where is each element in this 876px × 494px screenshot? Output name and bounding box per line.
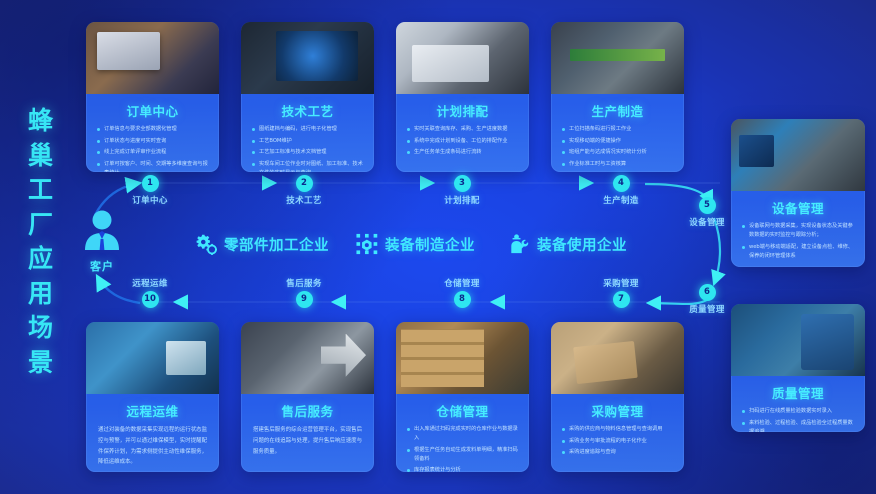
infographic-canvas: 蜂巢工厂应用场景 [0, 0, 876, 494]
mid-label-parts-manufacturing: 零部件加工企业 [195, 233, 329, 255]
card-bullet: 实时关联查询库存、采购、生产进度数据 [405, 125, 520, 134]
mid-label-equipment-usage: 装备使用企业 [508, 233, 627, 255]
card-bullet: 系统中完成计划到设备、工位的排配作业 [405, 137, 520, 146]
flow-node-number: 8 [454, 291, 471, 308]
card-bullet: 订单可按客户、时间、交期等多维度查询与报表统计 [95, 160, 210, 172]
card-bullet: 来料检验、过程检验、成品检验全过程质量数据追溯 [740, 419, 856, 432]
card-photo [86, 322, 219, 394]
card-photo [396, 22, 529, 94]
mid-label-text: 零部件加工企业 [224, 234, 329, 255]
flow-node-2[interactable]: 2 技术工艺 [274, 175, 334, 206]
card-photo [86, 22, 219, 94]
card-after-sales[interactable]: 售后服务 搭建售后服务的综合运营管理平台，实现售后问题的在线追踪与处理，提升售后… [241, 322, 374, 472]
flow-node-number: 6 [699, 284, 716, 301]
network-node-icon [356, 233, 378, 255]
flow-node-10[interactable]: 10 远程运维 [120, 277, 180, 308]
card-title: 计划排配 [405, 101, 520, 120]
card-bullet-list: 采购的供应商与物料信息管理与查询调用采购业务与审批流程的电子化作业采购进度追踪与… [560, 425, 675, 457]
flow-node-number: 7 [613, 291, 630, 308]
flow-node-number: 2 [296, 175, 313, 192]
page-title-char: 厂 [28, 208, 54, 243]
card-paragraph: 搭建售后服务的综合运营管理平台，实现售后问题的在线追踪与处理，提升售后响应速度与… [250, 425, 365, 457]
card-bullet: 采购进度追踪与查询 [560, 448, 675, 457]
gears-icon [195, 233, 217, 255]
flow-node-label: 仓储管理 [432, 277, 492, 289]
card-bullet: 扫码进行在线质量检验数据实时录入 [740, 407, 856, 416]
card-photo [731, 304, 865, 376]
card-title: 售后服务 [250, 401, 365, 420]
card-photo [551, 22, 684, 94]
card-procurement[interactable]: 采购管理 采购的供应商与物料信息管理与查询调用采购业务与审批流程的电子化作业采购… [551, 322, 684, 472]
card-bullet: web端与移动端适配，建立设备点检、维修、保养的闭环管理体系 [740, 243, 856, 261]
card-photo [731, 119, 865, 191]
card-title: 技术工艺 [250, 101, 365, 120]
card-production[interactable]: 生产制造 工位扫描条码进行报工作业实现移动端的便捷操作班组产能与达成情况实时统计… [551, 22, 684, 172]
flow-node-number: 3 [454, 175, 471, 192]
card-bullet: 设备联网与数据采集，实现设备状态及关键参数数据的实时监控与跟踪分析； [740, 222, 856, 240]
card-bullet: 图纸建档与编码，进行电子化管理 [250, 125, 365, 134]
card-bullet-list: 图纸建档与编码，进行电子化管理工艺BOM维护工艺加工标准与技术文档管理实现车间工… [250, 125, 365, 172]
card-bullet: 实现移动端的便捷操作 [560, 137, 675, 146]
card-plan-schedule[interactable]: 计划排配 实时关联查询库存、采购、生产进度数据系统中完成计划到设备、工位的排配作… [396, 22, 529, 172]
flow-node-label: 订单中心 [120, 194, 180, 206]
card-bullet-list: 工位扫描条码进行报工作业实现移动端的便捷操作班组产能与达成情况实时统计分析作业标… [560, 125, 675, 169]
flow-node-1[interactable]: 1 订单中心 [120, 175, 180, 206]
flow-node-label: 设备管理 [677, 216, 737, 228]
flow-node-number: 10 [142, 291, 159, 308]
page-title-char: 工 [28, 173, 54, 208]
card-tech-process[interactable]: 技术工艺 图纸建档与编码，进行电子化管理工艺BOM维护工艺加工标准与技术文档管理… [241, 22, 374, 172]
flow-node-number: 9 [296, 291, 313, 308]
page-title-char: 巢 [28, 139, 54, 174]
flow-node-7[interactable]: 7 采购管理 [591, 277, 651, 308]
flow-node-number: 5 [699, 197, 716, 214]
card-bullet-list: 实时关联查询库存、采购、生产进度数据系统中完成计划到设备、工位的排配作业生产任务… [405, 125, 520, 157]
customer-block: 客户 [74, 209, 130, 274]
flow-node-label: 计划排配 [432, 194, 492, 206]
flow-node-8[interactable]: 8 仓储管理 [432, 277, 492, 308]
card-title: 仓储管理 [405, 401, 520, 420]
customer-label: 客户 [74, 258, 130, 274]
card-bullet: 根据生产任务自动生成发料单明细，精准扫码领备料 [405, 446, 520, 464]
worker-wrench-icon [508, 233, 530, 255]
mid-label-equipment-manufacturing: 装备制造企业 [356, 233, 475, 255]
card-photo [241, 22, 374, 94]
card-bullet: 作业标准工时与工资核算 [560, 160, 675, 169]
card-bullet: 订单状态与进度可实时查询 [95, 137, 210, 146]
page-title-char: 蜂 [28, 104, 54, 139]
card-bullet: 班组产能与达成情况实时统计分析 [560, 148, 675, 157]
flow-node-number: 4 [613, 175, 630, 192]
card-title: 质量管理 [740, 383, 856, 402]
card-warehouse[interactable]: 仓储管理 出入库通过扫码完成实时的仓库作业与数据录入根据生产任务自动生成发料单明… [396, 322, 529, 472]
page-title-char: 用 [28, 277, 54, 312]
card-bullet-list: 设备联网与数据采集，实现设备状态及关键参数数据的实时监控与跟踪分析；web端与移… [740, 222, 856, 261]
flow-node-label: 质量管理 [677, 303, 737, 315]
card-bullet-list: 扫码进行在线质量检验数据实时录入来料检验、过程检验、成品检验全过程质量数据追溯质… [740, 407, 856, 432]
card-bullet: 库存报表统计与分析 [405, 466, 520, 472]
flow-node-4[interactable]: 4 生产制造 [591, 175, 651, 206]
flow-node-label: 生产制造 [591, 194, 651, 206]
person-suit-icon [79, 209, 125, 251]
page-title-char: 应 [28, 242, 54, 277]
flow-node-6[interactable]: 6 质量管理 [677, 284, 737, 315]
card-bullet-list: 出入库通过扫码完成实时的仓库作业与数据录入根据生产任务自动生成发料单明细，精准扫… [405, 425, 520, 472]
card-bullet: 工艺加工标准与技术文档管理 [250, 148, 365, 157]
card-photo [396, 322, 529, 394]
card-bullet: 生产任务单生成条码进行流转 [405, 148, 520, 157]
card-bullet: 采购的供应商与物料信息管理与查询调用 [560, 425, 675, 434]
card-bullet: 采购业务与审批流程的电子化作业 [560, 437, 675, 446]
card-bullet: 工位扫描条码进行报工作业 [560, 125, 675, 134]
card-title: 订单中心 [95, 101, 210, 120]
flow-node-9[interactable]: 9 售后服务 [274, 277, 334, 308]
card-title: 远程运维 [95, 401, 210, 420]
flow-node-label: 技术工艺 [274, 194, 334, 206]
page-title-char: 场 [28, 311, 54, 346]
card-bullet: 订单信息与要求全部数据化管理 [95, 125, 210, 134]
card-photo [551, 322, 684, 394]
card-title: 生产制造 [560, 101, 675, 120]
flow-node-number: 1 [142, 175, 159, 192]
card-bullet: 线上完成订单评审作业流程 [95, 148, 210, 157]
card-bullet: 出入库通过扫码完成实时的仓库作业与数据录入 [405, 425, 520, 443]
page-title-char: 景 [28, 346, 54, 381]
card-equipment[interactable]: 设备管理 设备联网与数据采集，实现设备状态及关键参数数据的实时监控与跟踪分析；w… [731, 119, 865, 267]
card-bullet: 实现车间工位作业时对图纸、加工标准、技术文件的实时显示与查询 [250, 160, 365, 172]
flow-node-5[interactable]: 5 设备管理 [677, 197, 737, 228]
card-remote-ops[interactable]: 远程运维 通过对装备的数据采集实现远程的运行状态监控与预警，并可以通过维保模型，… [86, 322, 219, 472]
card-title: 设备管理 [740, 198, 856, 217]
mid-label-text: 装备使用企业 [537, 234, 627, 255]
flow-node-3[interactable]: 3 计划排配 [432, 175, 492, 206]
page-title: 蜂巢工厂应用场景 [18, 104, 64, 380]
card-photo [241, 322, 374, 394]
card-bullet-list: 订单信息与要求全部数据化管理订单状态与进度可实时查询线上完成订单评审作业流程订单… [95, 125, 210, 172]
card-paragraph: 通过对装备的数据采集实现远程的运行状态监控与预警，并可以通过维保模型，实时提醒配… [95, 425, 210, 468]
card-bullet: 工艺BOM维护 [250, 137, 365, 146]
flow-node-label: 远程运维 [120, 277, 180, 289]
flow-node-label: 售后服务 [274, 277, 334, 289]
flow-node-label: 采购管理 [591, 277, 651, 289]
card-quality[interactable]: 质量管理 扫码进行在线质量检验数据实时录入来料检验、过程检验、成品检验全过程质量… [731, 304, 865, 432]
mid-label-text: 装备制造企业 [385, 234, 475, 255]
card-title: 采购管理 [560, 401, 675, 420]
card-order-center[interactable]: 订单中心 订单信息与要求全部数据化管理订单状态与进度可实时查询线上完成订单评审作… [86, 22, 219, 172]
